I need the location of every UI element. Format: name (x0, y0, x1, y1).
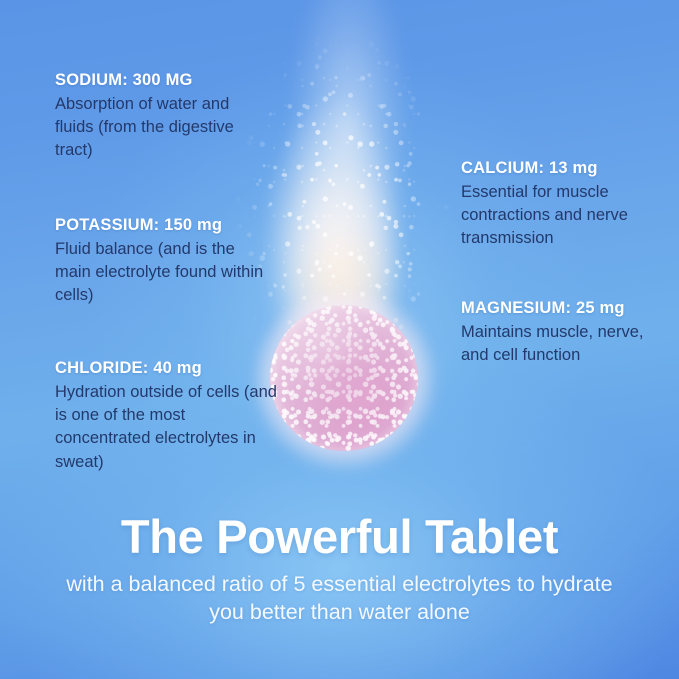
fact-potassium-title: POTASSIUM: 150 mg (55, 215, 270, 236)
effervescent-tablet-image (270, 305, 418, 451)
fact-calcium: CALCIUM: 13 mg Essential for muscle cont… (461, 158, 661, 251)
fact-chloride: CHLORIDE: 40 mg Hydration outside of cel… (55, 358, 280, 474)
fact-magnesium-body: Maintains muscle, nerve, and cell functi… (461, 321, 666, 368)
fact-sodium: SODIUM: 300 MG Absorption of water and f… (55, 70, 270, 163)
fact-magnesium: MAGNESIUM: 25 mg Maintains muscle, nerve… (461, 298, 666, 367)
fact-chloride-body: Hydration outside of cells (and is one o… (55, 381, 280, 475)
fact-sodium-body: Absorption of water and fluids (from the… (55, 93, 270, 163)
fact-chloride-title: CHLORIDE: 40 mg (55, 358, 280, 379)
fact-calcium-body: Essential for muscle contractions and ne… (461, 181, 661, 251)
product-infographic-poster: SODIUM: 300 MG Absorption of water and f… (0, 0, 679, 679)
fact-calcium-title: CALCIUM: 13 mg (461, 158, 661, 179)
footer-title: The Powerful Tablet (0, 512, 679, 562)
footer-headline-block: The Powerful Tablet with a balanced rati… (0, 512, 679, 627)
fact-sodium-title: SODIUM: 300 MG (55, 70, 270, 91)
footer-subtitle: with a balanced ratio of 5 essential ele… (55, 570, 625, 627)
fact-potassium-body: Fluid balance (and is the main electroly… (55, 238, 270, 308)
fact-magnesium-title: MAGNESIUM: 25 mg (461, 298, 666, 319)
fact-potassium: POTASSIUM: 150 mg Fluid balance (and is … (55, 215, 270, 308)
